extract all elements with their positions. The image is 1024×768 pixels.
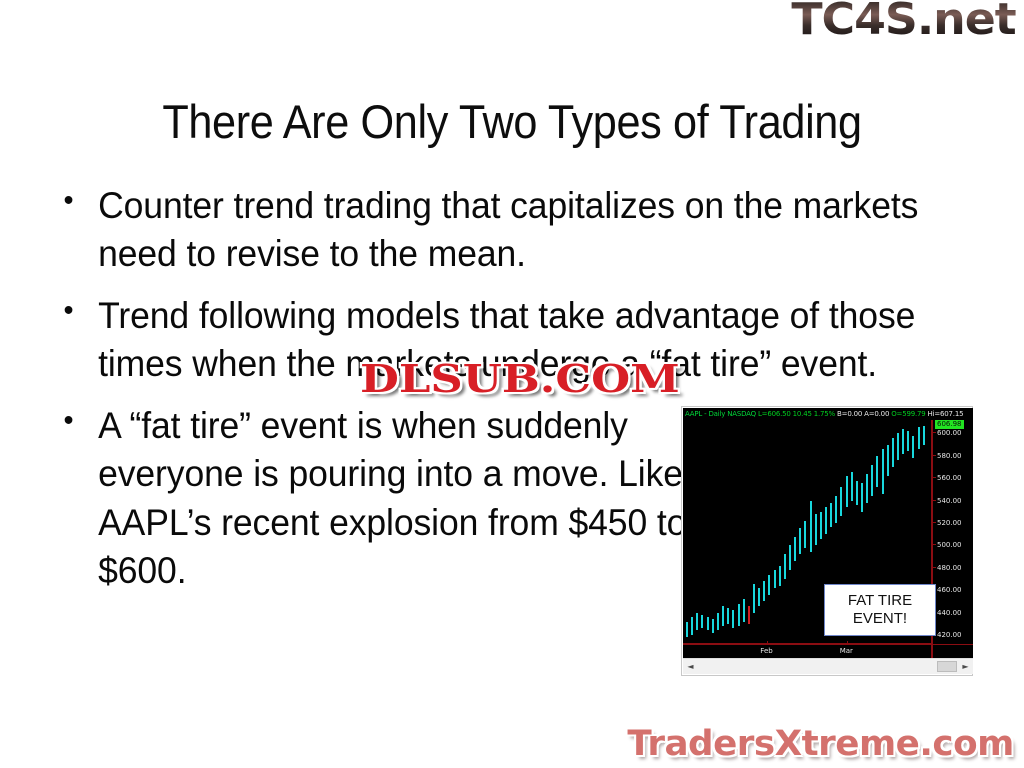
quote-last-label: L= xyxy=(758,410,767,418)
price-bar xyxy=(825,507,827,534)
price-bar xyxy=(923,426,925,445)
price-bar xyxy=(851,472,853,501)
quote-bid-label: B= xyxy=(837,410,847,418)
price-bar xyxy=(810,501,812,553)
chart-date-axis: FebMar xyxy=(683,644,973,658)
price-bar xyxy=(897,433,899,460)
price-bar xyxy=(774,570,776,588)
price-bar xyxy=(799,528,801,555)
chart-price-axis: 606.98 600.00580.00560.00540.00520.00500… xyxy=(931,420,973,658)
scroll-left-arrow-icon[interactable]: ◄ xyxy=(684,660,697,673)
price-bar xyxy=(861,483,863,512)
quote-ask-label: A= xyxy=(864,410,874,418)
price-axis-label: 520.00 xyxy=(937,519,962,527)
fat-tire-event-callout: FAT TIRE EVENT! xyxy=(824,584,936,636)
quote-high: 607.15 xyxy=(940,410,963,418)
price-bar xyxy=(738,604,740,626)
price-axis-label: 600.00 xyxy=(937,429,962,437)
price-bar xyxy=(696,613,698,631)
price-bar xyxy=(840,487,842,516)
chart-canvas: AAPL - Daily NASDAQ L=606.50 10.45 1.75%… xyxy=(683,408,973,658)
quote-ask: 0.00 xyxy=(874,410,889,418)
scroll-right-arrow-icon[interactable]: ► xyxy=(959,660,972,673)
price-bar xyxy=(779,566,781,586)
price-axis-label: 420.00 xyxy=(937,631,962,639)
price-bar xyxy=(846,476,848,507)
quote-exchange: NASDAQ xyxy=(727,410,756,418)
price-bar xyxy=(876,456,878,487)
price-bar xyxy=(758,588,760,606)
callout-line-1: FAT TIRE xyxy=(848,592,912,610)
tradersxtreme-logo: TradersXtreme.com xyxy=(628,727,1014,762)
price-bar xyxy=(753,584,755,613)
price-bar xyxy=(794,537,796,562)
price-bar xyxy=(882,449,884,494)
quote-high-label: Hi= xyxy=(928,410,940,418)
slide-canvas: TC4S.net There Are Only Two Types of Tra… xyxy=(0,0,1024,768)
tc4s-brand-logo: TC4S.net xyxy=(792,0,1016,42)
date-axis-tick xyxy=(767,641,768,645)
price-bar xyxy=(732,610,734,628)
price-bar xyxy=(717,613,719,631)
date-axis-tick xyxy=(847,641,848,645)
price-bar xyxy=(892,438,894,467)
price-bar xyxy=(727,608,729,624)
price-axis-label: 580.00 xyxy=(937,452,962,460)
price-bar xyxy=(768,575,770,595)
chart-quote-header: AAPL - Daily NASDAQ L=606.50 10.45 1.75%… xyxy=(685,409,971,420)
price-bar xyxy=(743,599,745,621)
price-axis-label: 540.00 xyxy=(937,497,962,505)
price-bar xyxy=(912,436,914,458)
page-title: There Are Only Two Types of Trading xyxy=(41,97,983,148)
price-bar xyxy=(701,615,703,628)
chart-horizontal-scrollbar[interactable]: ◄ ► xyxy=(683,658,973,674)
price-bar xyxy=(748,606,750,624)
callout-line-2: EVENT! xyxy=(853,610,907,628)
price-bar xyxy=(871,465,873,496)
price-axis-label: 560.00 xyxy=(937,474,962,482)
price-bar xyxy=(712,619,714,632)
aapl-chart-window[interactable]: AAPL - Daily NASDAQ L=606.50 10.45 1.75%… xyxy=(681,406,973,676)
scrollbar-thumb[interactable] xyxy=(937,661,957,672)
price-bar xyxy=(691,617,693,635)
quote-change-pct: 1.75% xyxy=(814,410,835,418)
price-bar xyxy=(707,617,709,630)
price-bar xyxy=(907,431,909,451)
price-bar xyxy=(902,429,904,454)
quote-change: 10.45 xyxy=(793,410,812,418)
last-price-tag: 606.98 xyxy=(935,420,964,429)
price-axis-label: 480.00 xyxy=(937,564,962,572)
price-axis-label: 500.00 xyxy=(937,541,962,549)
quote-open: 599.79 xyxy=(902,410,925,418)
price-bar xyxy=(815,514,817,545)
list-item: Counter trend trading that capitalizes o… xyxy=(52,182,945,278)
dlsub-watermark: DLSUB.COM xyxy=(360,360,680,398)
price-bar xyxy=(722,606,724,626)
date-axis-label: Mar xyxy=(840,647,853,656)
quote-open-label: O= xyxy=(891,410,902,418)
quote-bid: 0.00 xyxy=(847,410,862,418)
price-bar xyxy=(835,496,837,523)
price-bar xyxy=(856,481,858,506)
price-bar xyxy=(866,474,868,503)
price-bar xyxy=(830,503,832,528)
list-item: A “fat tire” event is when suddenly ever… xyxy=(52,402,712,594)
price-axis-label: 440.00 xyxy=(937,609,962,617)
price-bar xyxy=(887,445,889,476)
price-bar xyxy=(820,512,822,539)
price-bar xyxy=(804,521,806,548)
quote-symbol: AAPL - Daily xyxy=(685,410,725,418)
price-bar xyxy=(784,554,786,579)
price-bar xyxy=(918,427,920,449)
date-axis-label: Feb xyxy=(760,647,772,656)
price-axis-label: 460.00 xyxy=(937,586,962,594)
price-bar xyxy=(789,545,791,570)
price-bar xyxy=(763,581,765,601)
price-bar xyxy=(686,622,688,638)
quote-last: 606.50 xyxy=(767,410,790,418)
